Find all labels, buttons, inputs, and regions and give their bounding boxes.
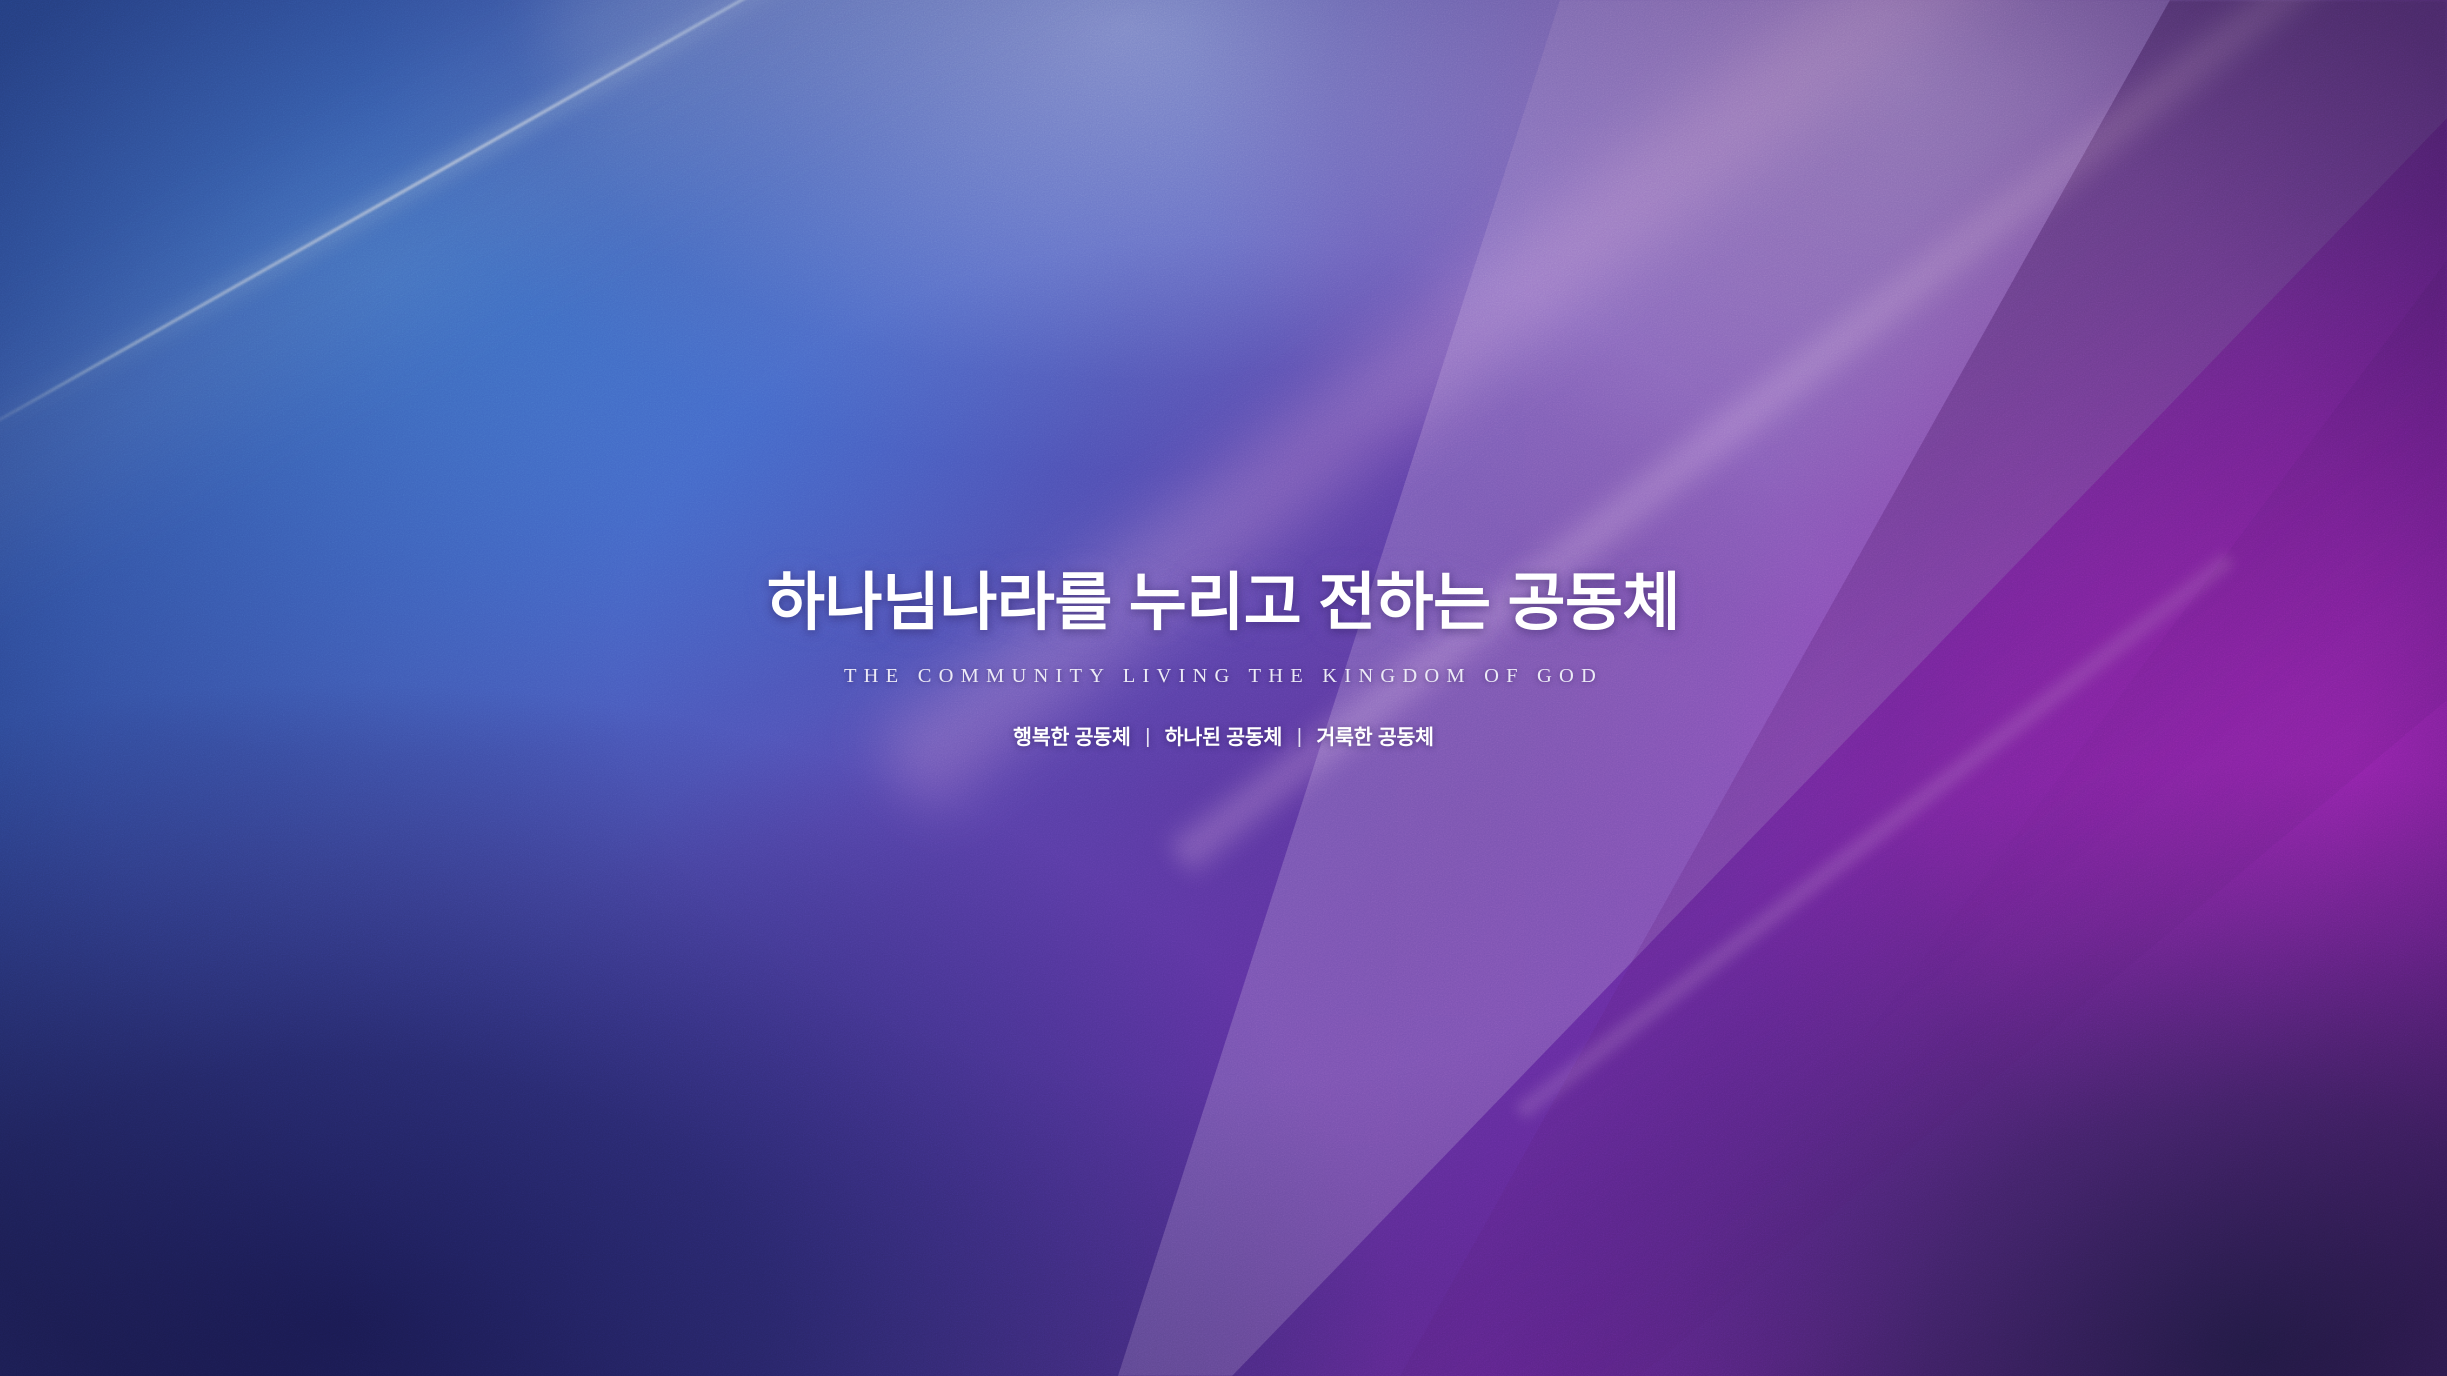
tagline-item-2: 하나된 공동체 bbox=[1165, 726, 1282, 749]
hero-text-block: 하나님나라를 누리고 전하는 공동체 THE COMMUNITY LIVING … bbox=[0, 566, 2447, 750]
tagline-separator-2: | bbox=[1288, 725, 1311, 749]
tagline-row: 행복한 공동체 | 하나된 공동체 | 거룩한 공동체 bbox=[0, 720, 2447, 750]
subtitle-english: THE COMMUNITY LIVING THE KINGDOM OF GOD bbox=[0, 665, 2447, 688]
tagline-separator-1: | bbox=[1136, 725, 1159, 749]
tagline-item-1: 행복한 공동체 bbox=[1013, 726, 1130, 749]
page-title: 하나님나라를 누리고 전하는 공동체 bbox=[0, 566, 2447, 640]
tagline-item-3: 거룩한 공동체 bbox=[1316, 726, 1433, 749]
hero-slide: 하나님나라를 누리고 전하는 공동체 THE COMMUNITY LIVING … bbox=[0, 0, 2447, 1376]
